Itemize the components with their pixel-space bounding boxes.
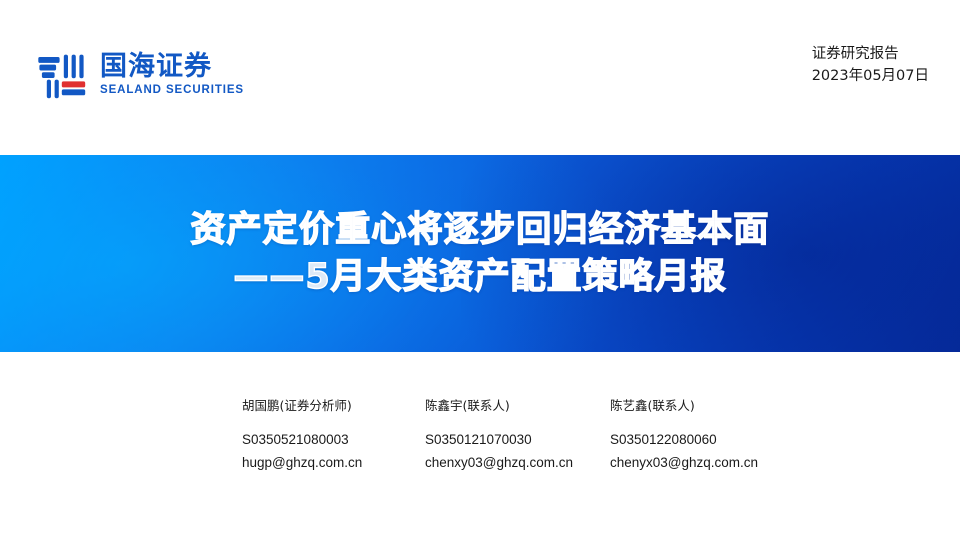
company-name-en: SEALAND SECURITIES <box>100 84 244 97</box>
author-column: 陈鑫宇(联系人) S0350121070030 chenxy03@ghzq.co… <box>425 398 573 472</box>
company-brand: 国海证券 SEALAND SECURITIES <box>36 50 244 102</box>
slide-header: 国海证券 SEALAND SECURITIES 证券研究报告 2023年05月0… <box>0 0 960 155</box>
report-meta: 证券研究报告 2023年05月07日 <box>812 43 929 88</box>
author-email[interactable]: hugp@ghzq.com.cn <box>242 455 362 472</box>
author-column: 陈艺鑫(联系人) S0350122080060 chenyx03@ghzq.co… <box>610 398 758 472</box>
report-cover-slide: 国海证券 SEALAND SECURITIES 证券研究报告 2023年05月0… <box>0 0 960 540</box>
author-license-code: S0350122080060 <box>610 432 758 449</box>
title-banner: 资产定价重心将逐步回归经济基本面 ——5月大类资产配置策略月报 <box>0 155 960 352</box>
report-title-line-1: 资产定价重心将逐步回归经济基本面 <box>0 207 960 254</box>
authors-section: 胡国鹏(证券分析师) S0350521080003 hugp@ghzq.com.… <box>0 398 960 488</box>
author-name: 陈鑫宇(联系人) <box>425 398 573 413</box>
report-date-label: 2023年05月07日 <box>812 65 929 87</box>
sealand-logo-mark-icon <box>36 50 88 102</box>
author-license-code: S0350121070030 <box>425 432 573 449</box>
company-brand-text: 国海证券 SEALAND SECURITIES <box>100 53 244 99</box>
author-name: 胡国鹏(证券分析师) <box>242 398 362 413</box>
company-name-cn: 国海证券 <box>100 53 244 81</box>
author-name: 陈艺鑫(联系人) <box>610 398 758 413</box>
author-email[interactable]: chenyx03@ghzq.com.cn <box>610 455 758 472</box>
report-type-label: 证券研究报告 <box>812 43 929 65</box>
author-column: 胡国鹏(证券分析师) S0350521080003 hugp@ghzq.com.… <box>242 398 362 472</box>
report-title-line-2: ——5月大类资产配置策略月报 <box>0 254 960 301</box>
report-title-block: 资产定价重心将逐步回归经济基本面 ——5月大类资产配置策略月报 <box>0 207 960 300</box>
author-license-code: S0350521080003 <box>242 432 362 449</box>
author-email[interactable]: chenxy03@ghzq.com.cn <box>425 455 573 472</box>
